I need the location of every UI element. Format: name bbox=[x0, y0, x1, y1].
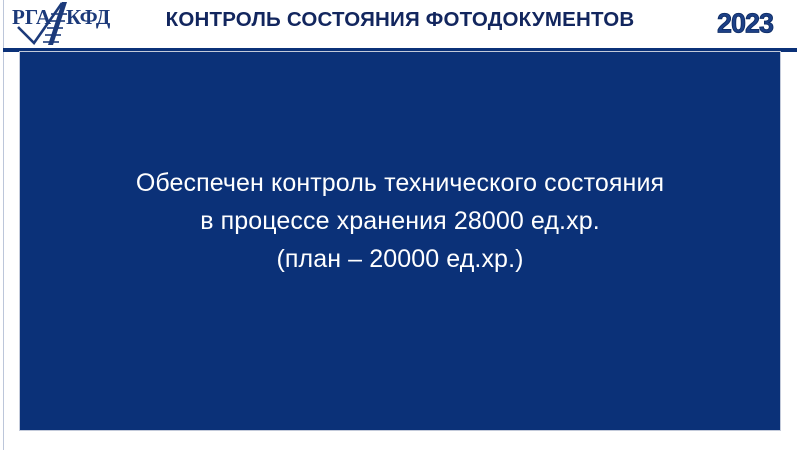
rgakfd-logo: РГА КФД bbox=[12, 1, 116, 47]
year-badge: 2023 bbox=[699, 6, 791, 38]
content-panel: Обеспечен контроль технического состояни… bbox=[19, 51, 781, 431]
logo-text-right: КФД bbox=[66, 5, 111, 29]
body-text-line-3: (план – 20000 ед.хр.) bbox=[20, 240, 780, 278]
year-badge-icon: 2023 bbox=[699, 6, 791, 38]
year-text: 2023 bbox=[717, 7, 774, 38]
presentation-slide: РГА КФД КОНТРОЛЬ СОСТОЯНИЯ ФОТОДОКУМЕНТО… bbox=[0, 0, 800, 450]
logo-text-left: РГА bbox=[12, 5, 52, 29]
body-text-line-1: Обеспечен контроль технического состояни… bbox=[20, 164, 780, 202]
page-title: КОНТРОЛЬ СОСТОЯНИЯ ФОТОДОКУМЕНТОВ bbox=[126, 10, 674, 31]
slide-header: РГА КФД КОНТРОЛЬ СОСТОЯНИЯ ФОТОДОКУМЕНТО… bbox=[0, 0, 800, 48]
left-edge-rule bbox=[3, 0, 4, 450]
rgakfd-logo-icon: РГА КФД bbox=[12, 1, 116, 47]
body-text-line-2: в процессе хранения 28000 ед.хр. bbox=[20, 202, 780, 240]
body-text-block: Обеспечен контроль технического состояни… bbox=[20, 164, 780, 278]
